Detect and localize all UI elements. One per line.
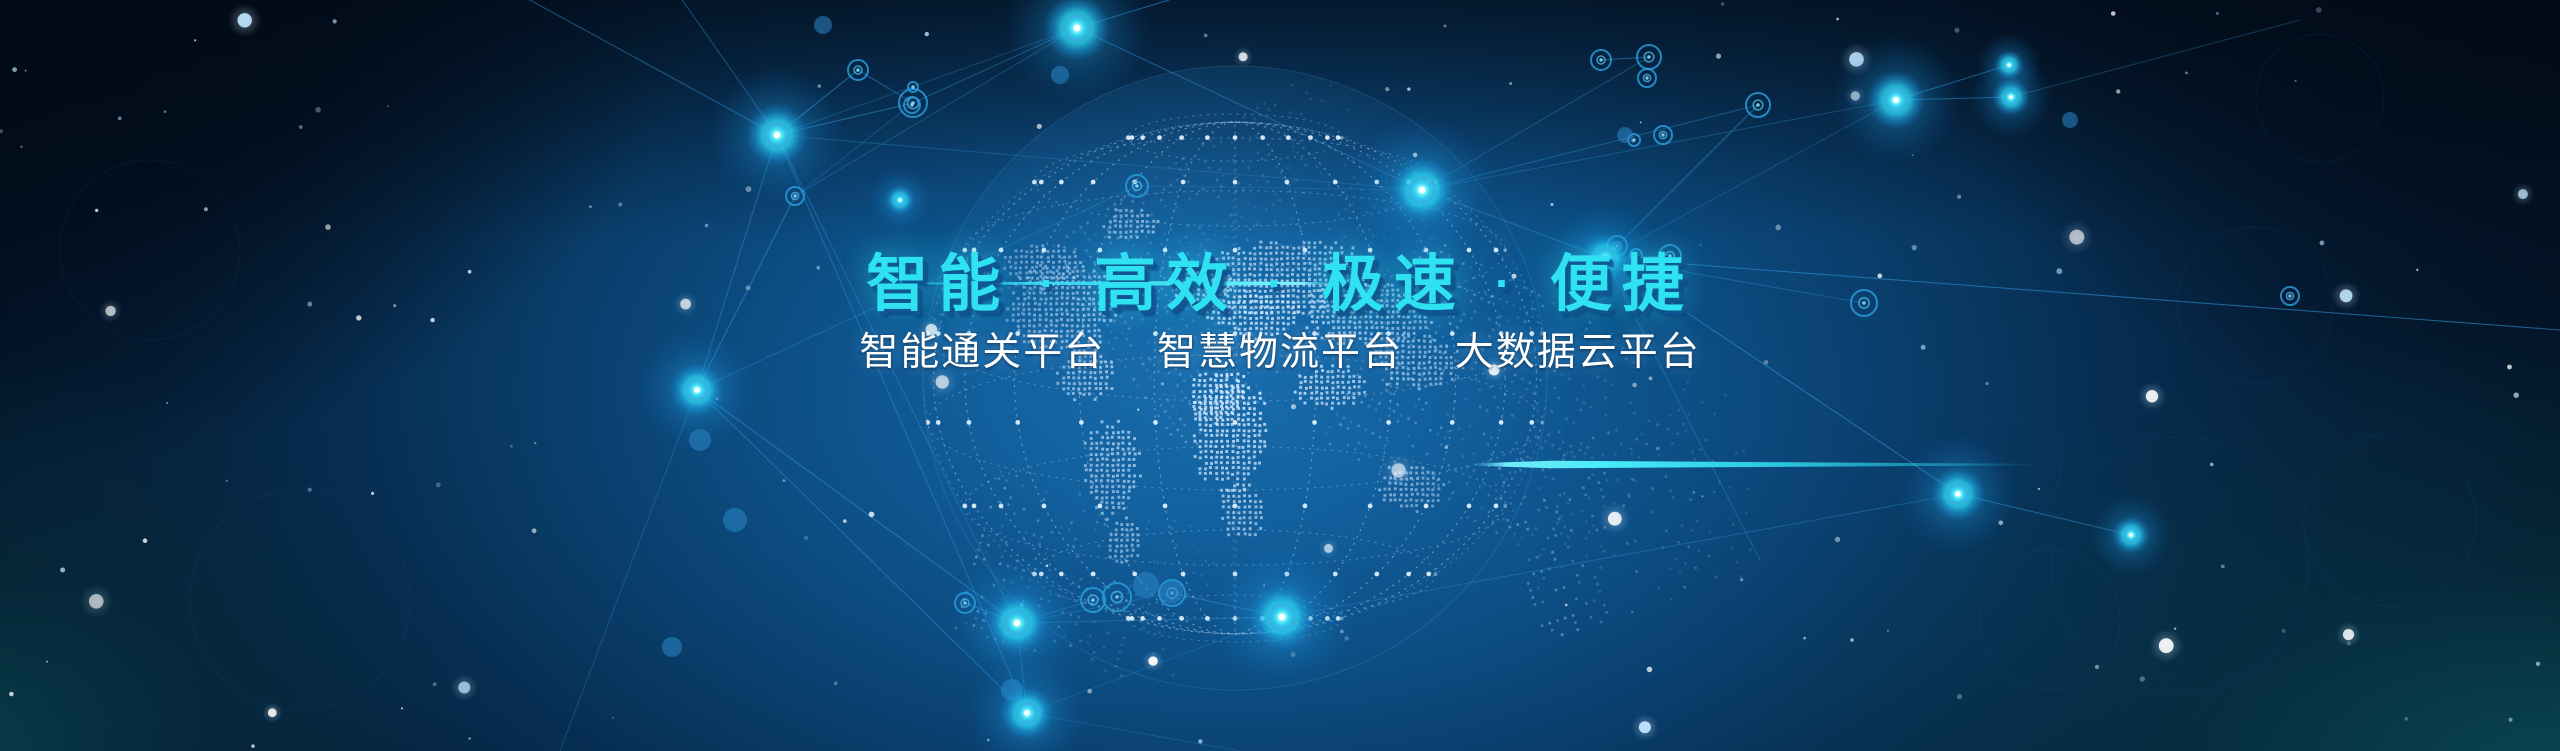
headline-part-4: 便捷 — [1550, 250, 1694, 319]
headline-part-1: 智能 — [866, 250, 1010, 319]
headline-separator-3: · — [1493, 257, 1522, 309]
hero-banner: 智能 · 高效 · 极速 · 便捷 智能通关平台 智慧物流平台 大数据云平台 — [0, 0, 2560, 751]
headline-part-3: 极速 — [1322, 250, 1466, 319]
headline-separator-2: · — [1265, 257, 1294, 309]
subtitle-part-2: 智慧物流平台 — [1157, 331, 1403, 374]
subtitle-part-1: 智能通关平台 — [859, 331, 1105, 374]
banner-subtitle: 智能通关平台 智慧物流平台 大数据云平台 — [0, 332, 2560, 375]
headline-separator-1: · — [1038, 257, 1067, 309]
banner-copy: 智能 · 高效 · 极速 · 便捷 智能通关平台 智慧物流平台 大数据云平台 — [0, 252, 2560, 375]
subtitle-part-3: 大数据云平台 — [1455, 331, 1701, 374]
network-globe-artwork — [0, 0, 2560, 751]
headline-part-2: 高效 — [1094, 250, 1238, 319]
banner-headline: 智能 · 高效 · 极速 · 便捷 — [0, 252, 2560, 318]
